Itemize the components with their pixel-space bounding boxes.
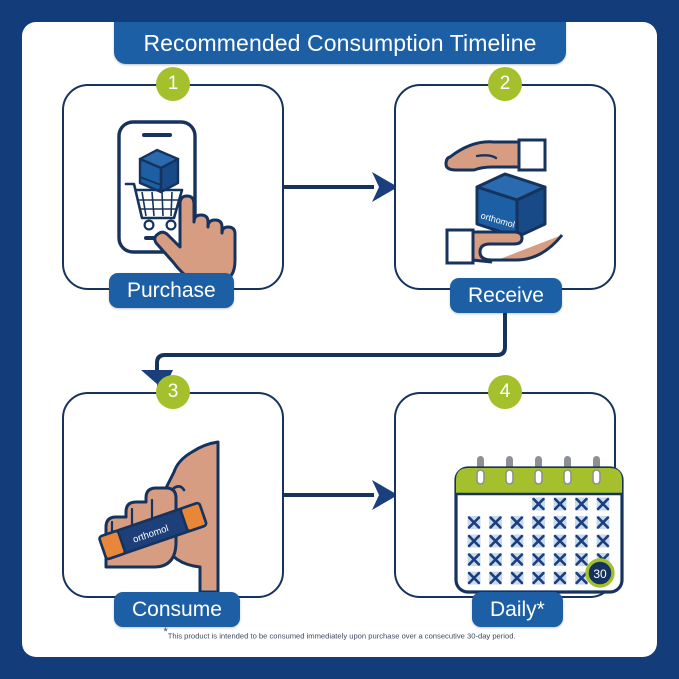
- step-label-daily: Daily*: [472, 592, 563, 627]
- step-label-purchase-text: Purchase: [127, 279, 216, 303]
- step-badge-1: 1: [156, 67, 190, 101]
- step-badge-3-label: 3: [168, 381, 179, 403]
- step-badge-1-label: 1: [168, 73, 179, 95]
- step-badge-4-label: 4: [500, 381, 511, 403]
- footnote-text: This product is intended to be consumed …: [168, 632, 516, 641]
- page-title: Recommended Consumption Timeline: [143, 30, 536, 57]
- infographic-canvas: orthomol: [22, 22, 657, 657]
- step-label-receive: Receive: [450, 278, 562, 313]
- infographic-frame: orthomol: [22, 22, 657, 657]
- hands-holding-box-icon: orthomol: [446, 140, 562, 263]
- step-badge-2: 2: [488, 67, 522, 101]
- smartphone-shopping-cart-icon: [119, 122, 235, 280]
- step-badge-3: 3: [156, 375, 190, 409]
- step-label-consume-text: Consume: [132, 598, 222, 622]
- step-badge-4: 4: [488, 375, 522, 409]
- step-label-consume: Consume: [114, 592, 240, 627]
- package-box-icon: [140, 150, 178, 192]
- person-drinking-vial-icon: orthomol: [99, 442, 218, 592]
- calendar-30-days-icon: 30: [456, 456, 622, 592]
- day-30-badge: 30: [587, 560, 613, 586]
- step-label-receive-text: Receive: [468, 284, 544, 308]
- hand-lower-icon: [447, 230, 562, 263]
- hand-upper-icon: [446, 140, 545, 170]
- step-badge-2-label: 2: [500, 73, 511, 95]
- title-banner: Recommended Consumption Timeline: [114, 22, 566, 64]
- day-30-label: 30: [593, 567, 607, 581]
- illustrations-layer: orthomol: [22, 22, 657, 657]
- step-label-purchase: Purchase: [109, 273, 234, 308]
- orthomol-box-icon: orthomol: [477, 174, 545, 237]
- footnote: *This product is intended to be consumed…: [22, 626, 657, 641]
- step-label-daily-text: Daily*: [490, 598, 545, 622]
